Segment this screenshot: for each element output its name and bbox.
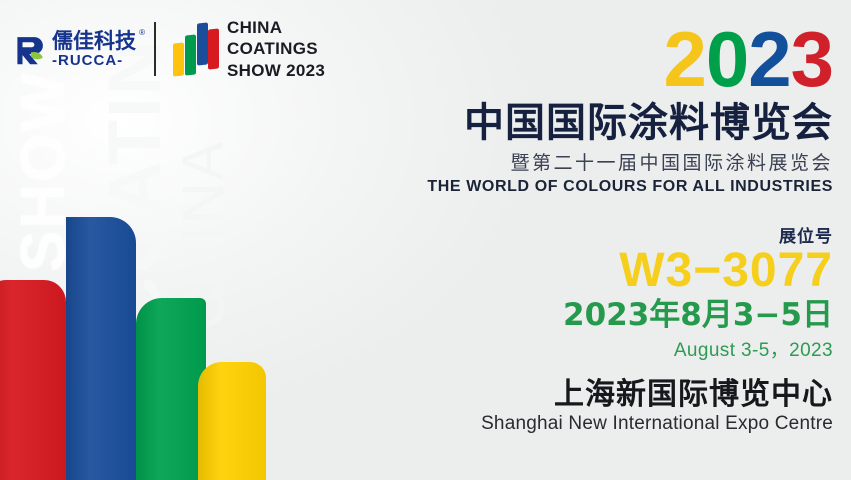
- rucca-name-cn: 儒佳科技: [52, 31, 136, 52]
- bar-yellow: [198, 362, 266, 480]
- rucca-mark-icon: [14, 32, 48, 66]
- ccs-bar-red: [208, 28, 219, 69]
- venue-name-cn: 上海新国际博览中心: [403, 378, 833, 411]
- year-digit-3: 2: [748, 15, 790, 103]
- bar-green: [136, 298, 206, 480]
- event-date-cn: 2023年8月3−5日: [403, 298, 833, 334]
- ccs-line-china: CHINA: [227, 17, 325, 38]
- event-subtitle-en: THE WORLD OF COLOURS FOR ALL INDUSTRIES: [403, 178, 833, 196]
- year-digit-1: 2: [663, 15, 705, 103]
- rucca-name-en: -RUCCA-: [52, 53, 136, 68]
- colour-bars-graphic: [0, 160, 300, 480]
- venue-name-en: Shanghai New International Expo Centre: [403, 413, 833, 435]
- bar-blue: [66, 217, 136, 480]
- ccs-wordmark: CHINA COATINGS SHOW 2023: [227, 17, 325, 80]
- event-title-cn: 中国国际涂料博览会: [403, 102, 833, 144]
- booth-number: W3−3077: [403, 245, 833, 298]
- event-poster: SHOW COATING CHINA 儒佳科技 -RUCCA- ®: [0, 0, 851, 480]
- ccs-bar-yellow: [173, 42, 184, 76]
- year-2023: 2023: [403, 22, 833, 96]
- rucca-company-logo: 儒佳科技 -RUCCA- ®: [14, 31, 136, 68]
- ccs-line-coatings: COATINGS: [227, 38, 325, 59]
- ccs-bars-icon: [172, 21, 218, 77]
- rucca-wordmark: 儒佳科技 -RUCCA- ®: [52, 31, 136, 68]
- ccs-bar-green: [185, 34, 196, 75]
- header-logos: 儒佳科技 -RUCCA- ® CHINA COATINGS SHOW 2023: [0, 0, 325, 98]
- registered-mark-icon: ®: [139, 29, 145, 37]
- event-subtitle-cn: 暨第二十一届中国国际涂料展览会: [403, 148, 833, 175]
- logo-divider: [154, 22, 156, 76]
- year-digit-4: 3: [791, 15, 833, 103]
- year-digit-2: 0: [706, 15, 748, 103]
- bar-red: [0, 280, 66, 480]
- event-date-en: August 3-5，2023: [403, 335, 833, 362]
- ccs-bar-blue: [197, 22, 208, 65]
- poster-content: 2023 中国国际涂料博览会 暨第二十一届中国国际涂料展览会 THE WORLD…: [403, 0, 833, 435]
- china-coatings-show-logo: CHINA COATINGS SHOW 2023: [172, 17, 325, 80]
- ccs-line-show: SHOW 2023: [227, 60, 325, 81]
